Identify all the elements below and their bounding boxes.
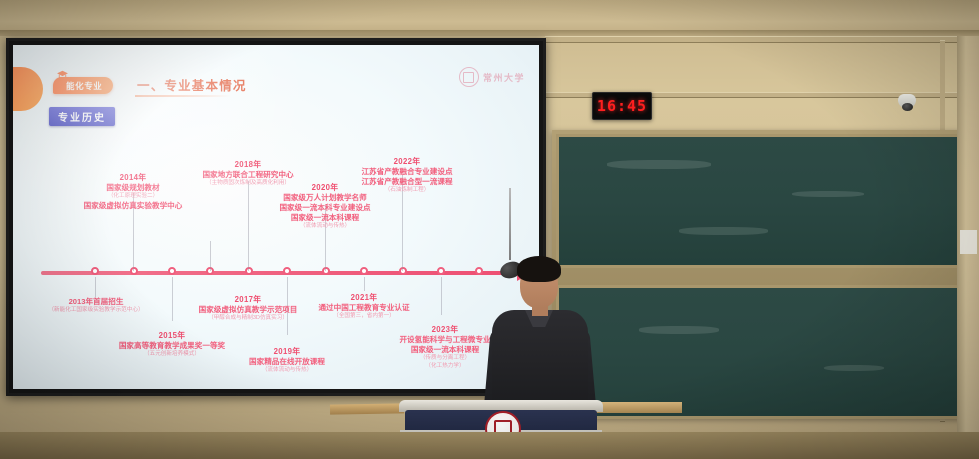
university-logo: 常州大学	[459, 67, 525, 87]
timeline-node	[245, 267, 253, 275]
timeline-node	[130, 267, 138, 275]
timeline-axis	[41, 271, 519, 275]
timeline-entry-2019: 2019年 国家精品在线开放课程 （流体流动与传热）	[212, 347, 362, 375]
presentation-slide: 能化专业 一、专业基本情况 常州大学 专业历史	[13, 45, 539, 389]
blackboard-panel-upper	[556, 134, 963, 268]
timeline-stem	[364, 277, 365, 291]
floor-strip	[0, 432, 979, 459]
timeline-node	[360, 267, 368, 275]
entry-line: 江苏省产教融合专业建设点	[327, 167, 487, 177]
timeline-entry-2021: 2021年 通过中国工程教育专业认证 （全国第三，省内第一）	[289, 293, 439, 321]
entry-sub: （化工原理实验二）	[58, 193, 208, 200]
entry-sub: （流体流动与传热）	[250, 223, 400, 230]
timeline-entry-2022: 2022年 江苏省产教融合专业建设点 江苏省产教融合型一流课程 （石油炼制工程）	[327, 157, 487, 195]
timeline-node	[475, 267, 483, 275]
timeline-stem	[95, 277, 96, 297]
entry-line: 国家级一流本科课程	[250, 213, 400, 223]
digital-wall-clock: 16:45	[592, 92, 652, 120]
blackboard	[552, 130, 967, 418]
presenter	[489, 244, 597, 419]
desk-surface-left	[330, 403, 404, 414]
entry-sub: （石油炼制工程）	[327, 187, 487, 194]
entry-year: 2015年	[97, 331, 247, 341]
wall-conduit	[545, 36, 979, 43]
timeline-stem	[441, 277, 442, 315]
entry-line: 国家地方联合工程研究中心	[173, 170, 323, 180]
wall-notice-paper	[960, 230, 977, 254]
entry-year: 2022年	[327, 157, 487, 167]
block-title-pill: 专业历史	[49, 107, 115, 126]
brand-tag-pill: 能化专业	[53, 77, 113, 94]
clock-time-display: 16:45	[597, 97, 647, 115]
university-seal-icon	[459, 67, 479, 87]
entry-sub: （流体流动与传热）	[212, 367, 362, 374]
presenter-hair	[517, 256, 561, 282]
timeline-node	[399, 267, 407, 275]
timeline-node	[168, 267, 176, 275]
brand-tag-label: 能化专业	[66, 80, 102, 92]
decorative-corner-shape	[13, 67, 43, 111]
desk-surface-right	[596, 402, 682, 413]
entry-line: 国家级一流本科专业建设点	[250, 203, 400, 213]
entry-year: 2019年	[212, 347, 362, 357]
entry-year: 2021年	[289, 293, 439, 303]
blackboard-panel-lower	[556, 285, 963, 419]
timeline-node	[322, 267, 330, 275]
university-logo-text: 常州大学	[483, 71, 525, 84]
projector-screen-frame: 能化专业 一、专业基本情况 常州大学 专业历史	[6, 38, 546, 396]
entry-line: 国家级万人计划教学名师	[250, 193, 400, 203]
entry-line: 江苏省产教融合型一流课程	[327, 177, 487, 187]
timeline-node	[437, 267, 445, 275]
timeline-node	[91, 267, 99, 275]
projector-screen: 能化专业 一、专业基本情况 常州大学 专业历史	[13, 45, 539, 389]
timeline-entry-2013: 2013年首届招生 （新能化工国家级实验教学示范中心）	[21, 297, 171, 314]
timeline-stem	[248, 181, 249, 271]
entry-line: 国家级虚拟仿真实验教学中心	[58, 201, 208, 211]
entry-line: 通过中国工程教育专业认证	[289, 303, 439, 313]
title-underline	[135, 95, 231, 97]
entry-sub: （全国第三，省内第一）	[289, 313, 439, 320]
timeline-stem	[210, 241, 211, 271]
entry-line: 国家精品在线开放课程	[212, 357, 362, 367]
entry-sub: （新能化工国家级实验教学示范中心）	[21, 307, 171, 314]
entry-year: 2018年	[173, 160, 323, 170]
entry-line: 2013年首届招生	[21, 297, 171, 307]
classroom-scene: 能化专业 一、专业基本情况 常州大学 专业历史	[0, 0, 979, 459]
camera-lens-icon	[902, 103, 913, 111]
timeline-node	[283, 267, 291, 275]
slide-section-title: 一、专业基本情况	[137, 75, 247, 94]
